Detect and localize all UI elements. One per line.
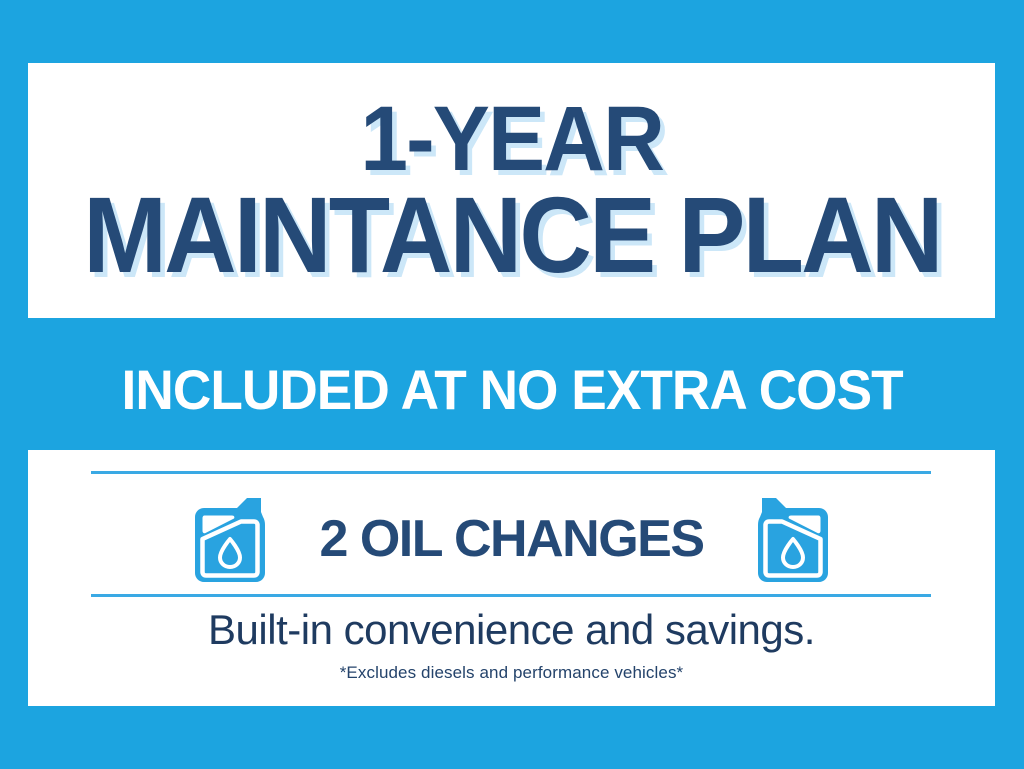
offer-row: 2 OIL CHANGES — [28, 490, 995, 588]
divider-bottom — [91, 594, 931, 597]
subheading-text: INCLUDED AT NO EXTRA COST — [121, 357, 902, 422]
disclaimer-text: *Excludes diesels and performance vehicl… — [28, 663, 995, 683]
headline-panel: 1-YEAR MAINTANCE PLAN — [28, 63, 995, 318]
promo-poster: 1-YEAR MAINTANCE PLAN INCLUDED AT NO EXT… — [0, 0, 1024, 769]
headline-line-2: MAINTANCE PLAN — [83, 185, 940, 284]
headline-line-1: 1-YEAR — [360, 97, 663, 182]
subheading-band: INCLUDED AT NO EXTRA COST — [0, 330, 1024, 448]
offer-label: 2 OIL CHANGES — [319, 509, 703, 569]
divider-top — [91, 471, 931, 474]
oil-jug-icon — [756, 495, 832, 583]
oil-jug-icon — [191, 495, 267, 583]
tagline-text: Built-in convenience and savings. — [28, 606, 995, 654]
detail-panel: 2 OIL CHANGES Built-in convenience and s… — [28, 450, 995, 706]
